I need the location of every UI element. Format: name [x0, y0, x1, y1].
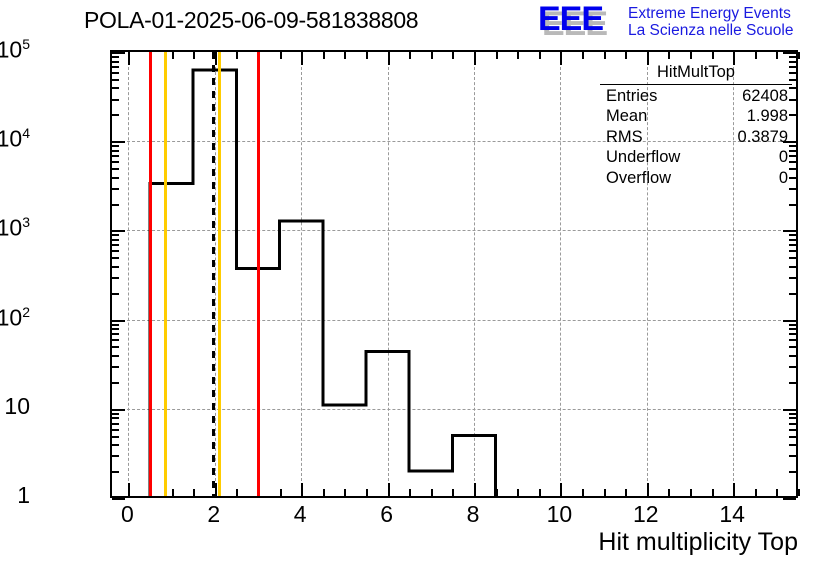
x-tick-label: 14 — [712, 501, 752, 528]
stats-row-label: Entries — [606, 86, 657, 107]
eee-logo-line2: La Scienza nelle Scuole — [628, 22, 793, 39]
stats-row-label: Underflow — [606, 147, 680, 168]
eee-logo-text: Extreme Energy Events La Scienza nelle S… — [628, 5, 793, 39]
stats-row-value: 62408 — [742, 86, 788, 107]
stats-row-value: 0.3879 — [738, 127, 788, 148]
x-axis-title: Hit multiplicity Top — [598, 528, 798, 557]
y-tick-label: 105 — [0, 36, 30, 64]
eee-logo-mark: EEE — [538, 2, 603, 36]
y-tick-label: 103 — [0, 214, 30, 242]
y-tick-label: 104 — [0, 125, 30, 153]
eee-logo-line1: Extreme Energy Events — [628, 5, 793, 22]
y-tick-label: 102 — [0, 304, 30, 332]
x-tick-label: 12 — [626, 501, 666, 528]
stats-divider — [600, 84, 792, 85]
stats-row: Overflow0 — [600, 168, 792, 189]
marker-line-orange-low — [164, 52, 167, 496]
stats-row-value: 0 — [779, 147, 788, 168]
stats-row: Mean1.998 — [600, 106, 792, 127]
x-tick-label: 6 — [367, 501, 407, 528]
stats-row-value: 1.998 — [747, 106, 788, 127]
stats-row: Underflow0 — [600, 147, 792, 168]
x-tick-label: 10 — [539, 501, 579, 528]
eee-logo: EEE Extreme Energy Events La Scienza nel… — [538, 2, 834, 42]
stats-box: HitMultTop Entries62408Mean1.998RMS0.387… — [600, 62, 792, 188]
marker-line-orange-high — [218, 52, 221, 496]
x-tick-label: 4 — [280, 501, 320, 528]
stats-row: RMS0.3879 — [600, 127, 792, 148]
stats-row-label: Overflow — [606, 168, 671, 189]
root-canvas: POLA-01-2025-06-09-581838808 EEE Extreme… — [0, 0, 836, 572]
stats-rows: Entries62408Mean1.998RMS0.3879Underflow0… — [600, 86, 792, 189]
y-tick-label: 10 — [4, 393, 30, 420]
stats-row-label: Mean — [606, 106, 647, 127]
stats-row: Entries62408 — [600, 86, 792, 107]
stats-row-value: 0 — [779, 168, 788, 189]
x-tick-label: 8 — [453, 501, 493, 528]
marker-line-red-high — [257, 52, 260, 496]
stats-row-label: RMS — [606, 127, 643, 148]
x-tick-label: 2 — [194, 501, 234, 528]
y-tick-right — [783, 498, 796, 500]
y-tick-label: 1 — [17, 482, 30, 509]
x-tick-label: 0 — [107, 501, 147, 528]
marker-line-mean-dashed — [212, 52, 215, 496]
stats-title: HitMultTop — [600, 62, 792, 84]
marker-line-red-low — [149, 52, 152, 496]
y-tick — [112, 498, 125, 500]
x-tick-top — [798, 52, 800, 59]
x-tick — [798, 489, 800, 496]
page-title: POLA-01-2025-06-09-581838808 — [84, 7, 418, 34]
